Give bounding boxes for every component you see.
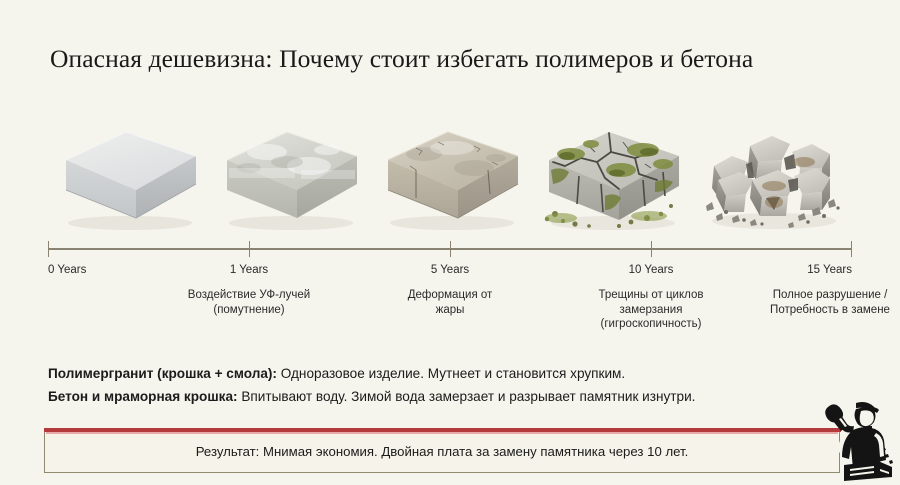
timeline-tick-2 xyxy=(450,241,451,257)
tick-label-2: 5 Years xyxy=(431,264,469,276)
material-note-1: Бетон и мраморная крошка: Впитывают воду… xyxy=(48,385,848,408)
stage-description-3-line-2: (гигроскопичность) xyxy=(566,317,736,332)
timeline-tick-3 xyxy=(651,241,652,257)
stone-stage-3-cracked-moss xyxy=(531,118,691,240)
material-note-0-lead: Полимергранит (крошка + смола): xyxy=(48,366,277,381)
stage-description-1-line-1: (помутнение) xyxy=(164,303,334,318)
clouded-marble-block-icon xyxy=(209,118,369,240)
timeline-tick-4 xyxy=(851,241,852,257)
material-notes: Полимергранит (крошка + смола): Одноразо… xyxy=(48,362,848,408)
stone-stage-2-weathered xyxy=(370,118,530,240)
stage-description-4-line-0: Полное разрушение / xyxy=(745,288,900,303)
material-note-0: Полимергранит (крошка + смола): Одноразо… xyxy=(48,362,848,385)
weathered-concrete-block-icon xyxy=(370,118,530,240)
timeline-axis xyxy=(48,248,852,249)
stage-description-4: Полное разрушение / Потребность в замене xyxy=(745,288,900,317)
timeline-tick-labels: 0 Years 1 Years 5 Years 10 Years 15 Year… xyxy=(48,264,852,284)
stonemason-carving-glyph xyxy=(820,399,894,481)
tick-label-0: 0 Years xyxy=(48,264,86,276)
timeline-tick-0 xyxy=(48,241,49,257)
material-note-0-rest: Одноразовое изделие. Мутнеет и становитс… xyxy=(277,366,625,381)
page-title: Опасная дешевизна: Почему стоит избегать… xyxy=(50,44,870,74)
tick-label-4: 15 Years xyxy=(807,264,852,276)
stage-description-3-line-0: Трещины от циклов xyxy=(566,288,736,303)
result-callout-box: Результат: Мнимая экономия. Двойная плат… xyxy=(44,430,840,473)
material-note-1-lead: Бетон и мраморная крошка: xyxy=(48,389,238,404)
stage-description-2-line-0: Деформация от xyxy=(365,288,535,303)
stage-description-2: Деформация от жары xyxy=(365,288,535,317)
stonemason-carving-icon xyxy=(820,399,894,481)
tick-label-3: 10 Years xyxy=(629,264,674,276)
shattered-rubble-icon xyxy=(692,118,852,240)
stage-description-2-line-1: жары xyxy=(365,303,535,318)
pristine-white-block-icon xyxy=(48,118,208,240)
timeline-stage-descriptions: Воздействие УФ-лучей (помутнение) Деформ… xyxy=(48,288,852,344)
stone-stage-0-pristine xyxy=(48,118,208,240)
stone-degradation-row xyxy=(48,118,852,240)
stage-description-1-line-0: Воздействие УФ-лучей xyxy=(164,288,334,303)
material-note-1-rest: Впитывают воду. Зимой вода замерзает и р… xyxy=(238,389,696,404)
tick-label-1: 1 Years xyxy=(230,264,268,276)
cracked-block-with-moss-icon xyxy=(531,118,691,240)
stage-description-1: Воздействие УФ-лучей (помутнение) xyxy=(164,288,334,317)
stage-description-4-line-1: Потребность в замене xyxy=(745,303,900,318)
stage-description-3: Трещины от циклов замерзания (гигроскопи… xyxy=(566,288,736,332)
stone-stage-1-clouded xyxy=(209,118,369,240)
stone-stage-4-shattered xyxy=(692,118,852,240)
stage-description-3-line-1: замерзания xyxy=(566,303,736,318)
timeline-tick-1 xyxy=(249,241,250,257)
result-text: Результат: Мнимая экономия. Двойная плат… xyxy=(196,444,689,459)
